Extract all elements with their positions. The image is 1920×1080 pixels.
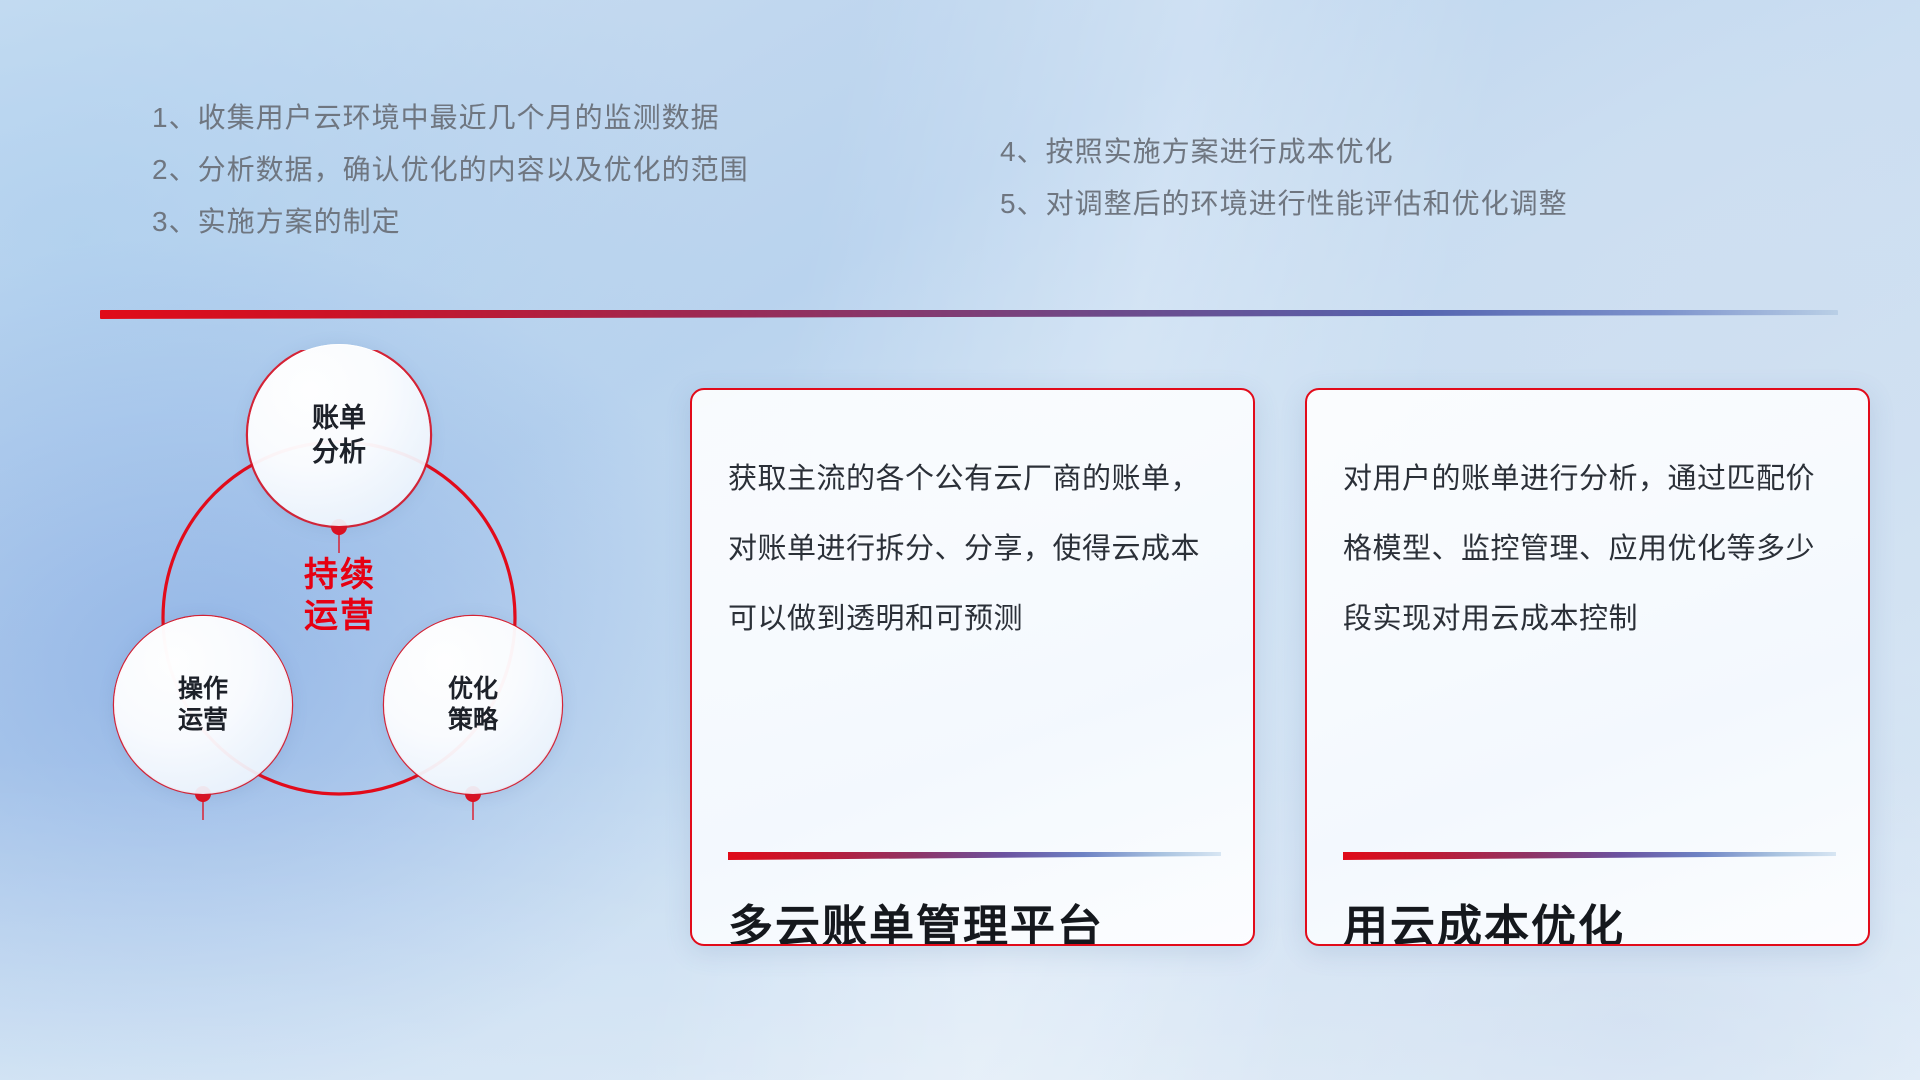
- card-1-rule: [728, 852, 1221, 860]
- step-item-1: 1、收集用户云环境中最近几个月的监测数据: [152, 92, 749, 144]
- venn-center-line2: 运营: [304, 596, 376, 637]
- steps-right-column: 4、按照实施方案进行成本优化 5、对调整后的环境进行性能评估和优化调整: [1000, 126, 1568, 230]
- venn-bubble-bill-analysis[interactable]: 账单 分析: [248, 344, 430, 526]
- card-2-title: 用云成本优化: [1343, 890, 1844, 946]
- section-divider: [100, 310, 1838, 319]
- step-item-5: 5、对调整后的环境进行性能评估和优化调整: [1000, 178, 1568, 230]
- card-multi-cloud-bill-platform[interactable]: 获取主流的各个公有云厂商的账单，对账单进行拆分、分享，使得云成本可以做到透明和可…: [690, 388, 1255, 946]
- continuous-operation-diagram: 账单 分析 操作 运营 优化 策略 持续 运营: [100, 350, 640, 950]
- steps-left-column: 1、收集用户云环境中最近几个月的监测数据 2、分析数据，确认优化的内容以及优化的…: [152, 92, 749, 248]
- bubble-label-line2: 策略: [448, 705, 498, 737]
- card-2-rule: [1343, 852, 1836, 860]
- card-1-description: 获取主流的各个公有云厂商的账单，对账单进行拆分、分享，使得云成本可以做到透明和可…: [728, 444, 1225, 655]
- bubble-label-line1: 优化: [448, 674, 498, 706]
- bubble-label-line1: 操作: [178, 674, 228, 706]
- bubble-label-line1: 账单: [312, 401, 366, 435]
- venn-center-label: 持续 运营: [260, 536, 420, 656]
- card-2-body-wrapper: 对用户的账单进行分析，通过匹配价格模型、监控管理、应用优化等多少段实现对用云成本…: [1343, 444, 1840, 655]
- step-item-3: 3、实施方案的制定: [152, 196, 749, 248]
- step-item-4: 4、按照实施方案进行成本优化: [1000, 126, 1568, 178]
- card-1-body-wrapper: 获取主流的各个公有云厂商的账单，对账单进行拆分、分享，使得云成本可以做到透明和可…: [728, 444, 1225, 655]
- card-1-title: 多云账单管理平台: [728, 890, 1229, 946]
- bubble-label-line2: 分析: [312, 435, 366, 469]
- process-steps: 1、收集用户云环境中最近几个月的监测数据 2、分析数据，确认优化的内容以及优化的…: [0, 92, 1920, 262]
- card-2-description: 对用户的账单进行分析，通过匹配价格模型、监控管理、应用优化等多少段实现对用云成本…: [1343, 444, 1840, 655]
- venn-center-line1: 持续: [304, 555, 376, 596]
- card-cloud-cost-optimization[interactable]: 对用户的账单进行分析，通过匹配价格模型、监控管理、应用优化等多少段实现对用云成本…: [1305, 388, 1870, 946]
- step-item-2: 2、分析数据，确认优化的内容以及优化的范围: [152, 144, 749, 196]
- bubble-label-line2: 运营: [178, 705, 228, 737]
